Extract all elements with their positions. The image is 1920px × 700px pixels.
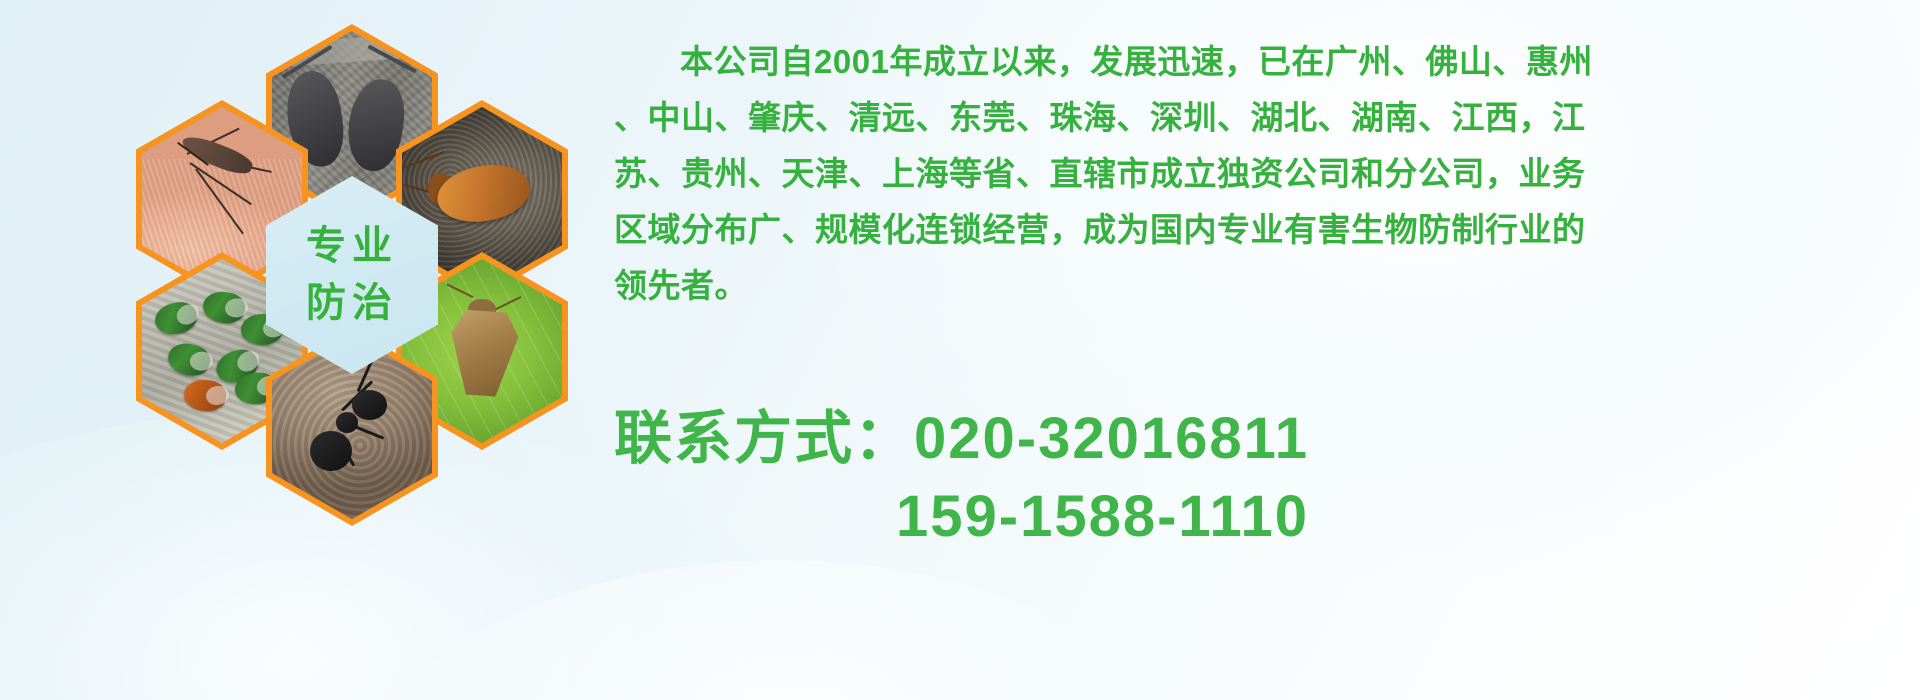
slogan-line-2: 防治 — [306, 275, 398, 332]
intro-line-1: 本公司自2001年成立以来，发展迅速，已在广州、佛山、惠州 — [614, 34, 1914, 90]
pest-control-banner: 专业 防治 本公司自2001年成立以来，发展迅速，已在广州、佛山、惠州 、中山、… — [0, 0, 1920, 700]
intro-line-2: 、中山、肇庆、清远、东莞、珠海、深圳、湖北、湖南、江西，江 — [614, 90, 1914, 146]
background-swoosh-secondary — [330, 560, 1230, 700]
slogan-line-1: 专业 — [306, 218, 398, 275]
intro-line-3: 苏、贵州、天津、上海等省、直辖市成立独资公司和分公司，业务 — [614, 146, 1914, 202]
contact-block: 联系方式：020-32016811 159-1588-1110 — [614, 400, 1914, 556]
phone-primary[interactable]: 020-32016811 — [914, 406, 1309, 471]
hexagon-photo-cluster: 专业 防治 — [90, 8, 590, 568]
contact-primary-line: 联系方式：020-32016811 — [614, 400, 1914, 478]
company-intro-text: 本公司自2001年成立以来，发展迅速，已在广州、佛山、惠州 、中山、肇庆、清远、… — [614, 34, 1914, 314]
phone-secondary[interactable]: 159-1588-1110 — [614, 478, 1914, 556]
intro-line-4: 区域分布广、规模化连锁经营，成为国内专业有害生物防制行业的 — [614, 202, 1914, 258]
intro-line-5: 领先者。 — [614, 258, 1914, 314]
contact-label: 联系方式： — [614, 406, 914, 471]
